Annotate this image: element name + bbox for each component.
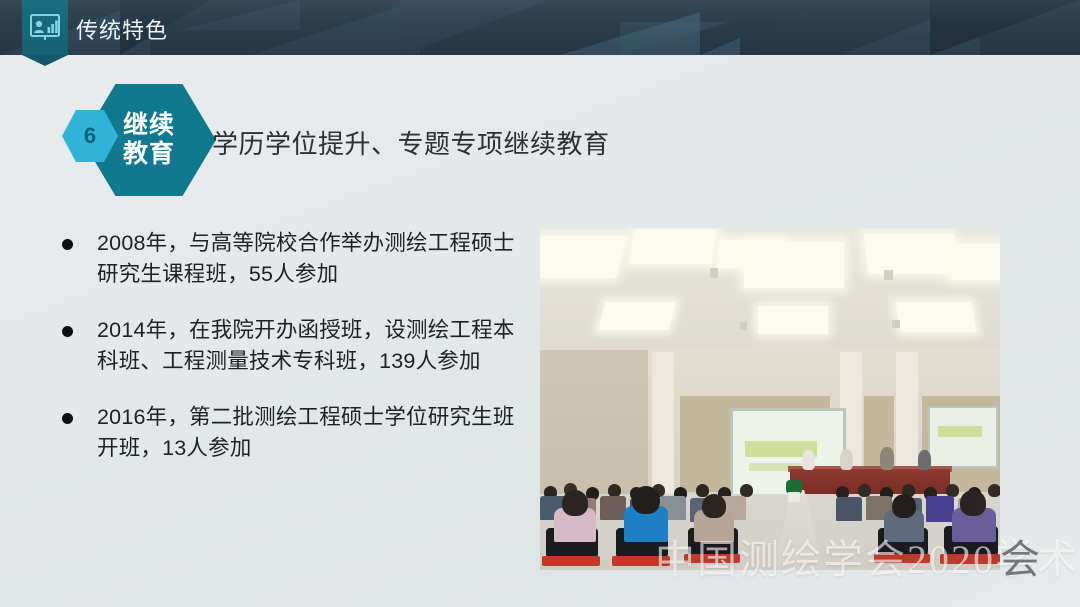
photo-audience (600, 496, 626, 520)
photo-light-panel (744, 242, 844, 288)
bullet-text: 2014年，在我院开办函授班，设测绘工程本科班、工程测量技术专科班，139人参加 (97, 315, 532, 376)
photo-plant-pot (788, 492, 800, 502)
bullet-dot-icon (62, 413, 73, 424)
ribbon-tail (22, 55, 68, 66)
photo-audience-near-head (892, 494, 916, 518)
photo-light-panel (895, 302, 976, 332)
list-item: 2008年，与高等院校合作举办测绘工程硕士研究生课程班，55人参加 (62, 228, 532, 289)
section-number: 6 (84, 123, 96, 149)
header-ribbon-badge (22, 0, 68, 66)
photo-light-panel (864, 234, 959, 274)
watermark-tail: 会 (1000, 527, 1042, 585)
photo-ceiling-vent (740, 322, 747, 330)
presentation-chart-icon (30, 14, 60, 41)
photo-wall-left (540, 350, 660, 495)
section-badge-line1: 继续 (123, 111, 175, 141)
bullet-text: 2016年，第二批测绘工程硕士学位研究生班开班，13人参加 (97, 402, 532, 463)
section-badge: 继续 教育 6 (62, 84, 222, 196)
photo-audience (988, 484, 1000, 497)
slide: 传统特色 继续 教育 6 学历学位提升、专题专项继续教育 2008年，与高等院校… (0, 0, 1080, 607)
photo-screen-text (938, 426, 982, 437)
photo-ceiling-vent (710, 268, 718, 278)
photo-audience (836, 497, 862, 521)
bullet-dot-icon (62, 239, 73, 250)
photo-light-panel (629, 230, 716, 264)
photo-light-panel (944, 244, 1000, 280)
bullet-text: 2008年，与高等院校合作举办测绘工程硕士研究生课程班，55人参加 (97, 228, 532, 289)
photo-audience-near-head (960, 490, 986, 516)
photo-panelist (918, 450, 931, 470)
section-badge-line2: 教育 (123, 140, 175, 170)
header-title: 传统特色 (76, 13, 168, 45)
photo-audience-near-head (562, 490, 588, 516)
list-item: 2014年，在我院开办函授班，设测绘工程本科班、工程测量技术专科班，139人参加 (62, 315, 532, 376)
photo-panelist (840, 449, 853, 470)
list-item: 2016年，第二批测绘工程硕士学位研究生班开班，13人参加 (62, 402, 532, 463)
photo-pillar (652, 352, 674, 502)
bullet-dot-icon (62, 326, 73, 337)
bullet-list: 2008年，与高等院校合作举办测绘工程硕士研究生课程班，55人参加 2014年，… (62, 228, 532, 489)
photo-light-panel (540, 236, 628, 278)
photo-chair-seat (542, 556, 600, 566)
photo-panelist (802, 450, 815, 470)
photo-projection-screen-secondary (928, 406, 998, 468)
photo-audience (926, 496, 954, 522)
photo-panelist (880, 447, 894, 470)
photo-ceiling-vent (884, 270, 893, 280)
photo-audience-near-head (702, 494, 726, 518)
photo-light-panel (599, 302, 676, 330)
photo-ceiling-vent (892, 320, 900, 328)
section-title: 学历学位提升、专题专项继续教育 (212, 124, 610, 161)
photo-audience-near-head (632, 486, 660, 514)
photo-light-panel (758, 306, 828, 334)
conference-hall-photo (540, 228, 1000, 570)
